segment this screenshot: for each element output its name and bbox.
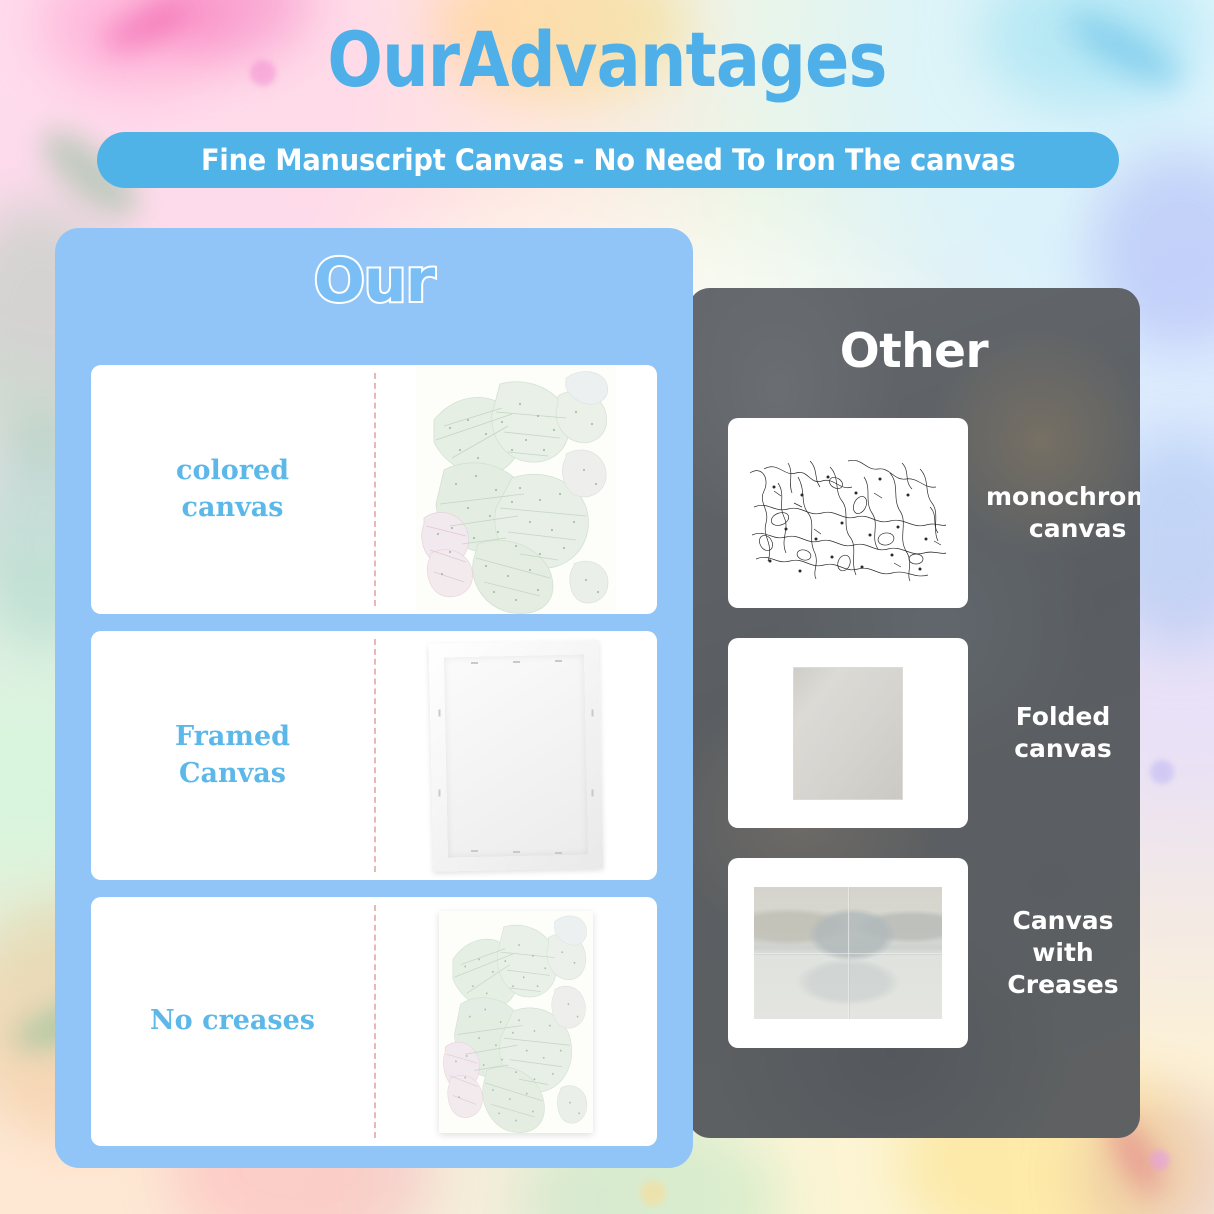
frame-staple — [471, 662, 478, 664]
crease-horizontal — [754, 953, 942, 955]
our-card-label: Framed Canvas — [175, 719, 290, 792]
frame-staple — [513, 661, 520, 663]
folded-canvas-image — [793, 667, 903, 800]
our-card-image-col — [374, 631, 657, 880]
other-row-label-creases: Canvas with Creases — [968, 905, 1140, 1001]
stretched-canvas-frame-image — [431, 642, 601, 870]
other-row-folded: Folded canvas — [688, 638, 1140, 828]
monochrome-lineart-canvas-thumb — [728, 418, 968, 608]
our-card-label-col: Framed Canvas — [91, 631, 374, 880]
frame-staple — [471, 850, 478, 852]
other-label-line-2: Creases — [1007, 970, 1118, 999]
frame-staple — [438, 789, 440, 796]
our-panel-heading: Our — [55, 246, 693, 316]
folded-canvas-thumb — [728, 638, 968, 828]
other-row-label-folded: Folded canvas — [968, 701, 1140, 765]
creased-canvas-image — [754, 887, 942, 1019]
our-label-line-2: canvas — [182, 492, 284, 523]
other-label-line-1: Folded — [1016, 702, 1111, 731]
other-label-line-2: canvas — [1014, 734, 1112, 763]
our-panel-cards: colored canvas — [91, 365, 657, 1163]
our-card-label-col: colored canvas — [91, 365, 374, 614]
frame-staple — [591, 709, 593, 716]
other-row-monochrome: monochrome canvas — [688, 418, 1140, 608]
frame-inner-canvas — [443, 654, 587, 857]
other-panel-heading: Other — [688, 324, 1140, 379]
our-card-label-col: No creases — [91, 897, 374, 1146]
other-panel-rows: monochrome canvas Folded canvas — [688, 418, 1140, 1078]
colored-monstera-canvas-image — [416, 366, 616, 614]
other-row-label-monochrome: monochrome canvas — [968, 481, 1140, 545]
frame-staple — [438, 709, 440, 716]
flat-monstera-canvas-image — [439, 911, 593, 1133]
frame-staple — [591, 789, 593, 796]
our-card-no-creases: No creases — [91, 897, 657, 1146]
other-panel: Other — [688, 288, 1140, 1138]
our-card-label: colored canvas — [176, 453, 289, 526]
our-panel: Our colored canvas — [55, 228, 693, 1168]
our-card-image-col — [374, 365, 657, 614]
creased-canvas-thumb — [728, 858, 968, 1048]
other-row-creases: Canvas with Creases — [688, 858, 1140, 1048]
our-card-label: No creases — [150, 1003, 315, 1039]
our-label-line-1: colored — [176, 455, 289, 486]
other-label-line-2: canvas — [1029, 514, 1127, 543]
other-label-line-1: Canvas with — [1012, 906, 1113, 967]
our-label-line-2: Canvas — [179, 758, 286, 789]
lineart-image — [744, 443, 952, 583]
our-label-line-1: Framed — [175, 721, 290, 752]
our-card-image-col — [374, 897, 657, 1146]
other-label-line-1: monochrome — [986, 482, 1140, 511]
our-card-colored-canvas: colored canvas — [91, 365, 657, 614]
frame-staple — [513, 851, 520, 853]
frame-staple — [555, 852, 562, 854]
our-card-framed-canvas: Framed Canvas — [91, 631, 657, 880]
subtitle-banner: Fine Manuscript Canvas - No Need To Iron… — [97, 132, 1119, 188]
page-title: OurAdvantages — [85, 22, 1129, 98]
frame-staple — [555, 660, 562, 662]
subtitle-text: Fine Manuscript Canvas - No Need To Iron… — [201, 143, 1015, 177]
